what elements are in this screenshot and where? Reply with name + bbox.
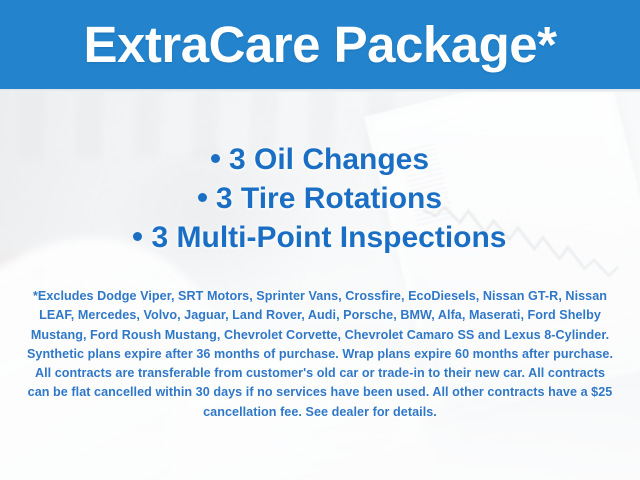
disclaimer-text: *Excludes Dodge Viper, SRT Motors, Sprin… [26,287,614,422]
list-item: 3 Multi-Point Inspections [0,218,640,257]
header-divider [0,89,640,92]
header-banner: ExtraCare Package* [0,0,640,89]
extracare-package-ad: ExtraCare Package* 3 Oil Changes 3 Tire … [0,0,640,480]
bullet-dot-icon [133,232,142,241]
benefits-list: 3 Oil Changes 3 Tire Rotations 3 Multi-P… [0,140,640,257]
benefit-label: 3 Tire Rotations [216,182,442,215]
page-title: ExtraCare Package* [84,19,557,70]
list-item: 3 Oil Changes [0,140,640,179]
bullet-dot-icon [198,193,207,202]
bullet-dot-icon [211,154,220,163]
list-item: 3 Tire Rotations [0,179,640,218]
benefit-label: 3 Oil Changes [229,143,429,176]
benefit-label: 3 Multi-Point Inspections [151,221,506,254]
